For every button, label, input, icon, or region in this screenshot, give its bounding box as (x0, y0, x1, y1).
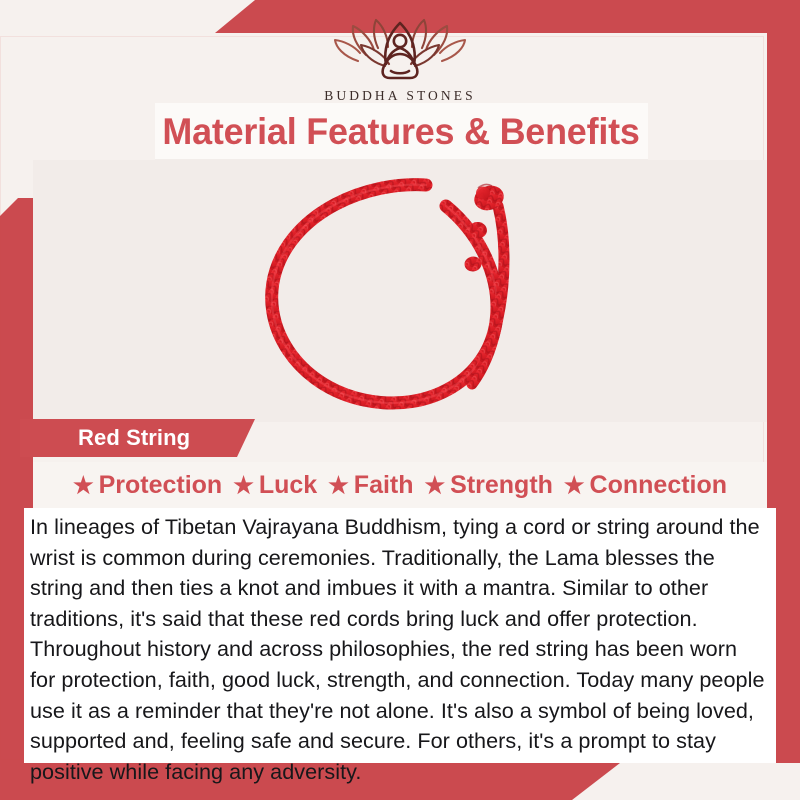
benefit-label: Luck (259, 471, 317, 500)
star-icon: ★ (564, 474, 585, 497)
brand-name: BUDDHA STONES (0, 88, 800, 104)
benefit-label: Connection (590, 471, 728, 500)
benefit-label: Faith (354, 471, 414, 500)
title-banner: Material Features & Benefits (155, 103, 648, 159)
description-block: In lineages of Tibetan Vajrayana Buddhis… (24, 508, 776, 763)
page-title: Material Features & Benefits (163, 113, 640, 150)
benefit-item-protection: ★ Protection (73, 471, 222, 500)
benefit-label: Strength (450, 471, 553, 500)
product-label-ribbon: Red String (20, 419, 255, 457)
lotus-meditation-icon (327, 14, 473, 86)
star-icon: ★ (73, 474, 94, 497)
benefit-item-luck: ★ Luck (233, 471, 317, 500)
benefit-item-connection: ★ Connection (564, 471, 727, 500)
product-label-text: Red String (20, 425, 190, 451)
benefit-label: Protection (99, 471, 223, 500)
star-icon: ★ (425, 474, 446, 497)
benefits-row: ★ Protection ★ Luck ★ Faith ★ Strength ★… (33, 462, 767, 508)
star-icon: ★ (233, 474, 254, 497)
brand-header: BUDDHA STONES (0, 14, 800, 104)
benefit-item-strength: ★ Strength (425, 471, 553, 500)
benefit-item-faith: ★ Faith (328, 471, 413, 500)
infographic-poster: BUDDHA STONES Material Features & Benefi… (0, 0, 800, 800)
star-icon: ★ (328, 474, 349, 497)
description-paragraph: In lineages of Tibetan Vajrayana Buddhis… (24, 512, 776, 787)
red-string-bracelet-illustration (240, 160, 560, 422)
product-image (33, 160, 767, 422)
